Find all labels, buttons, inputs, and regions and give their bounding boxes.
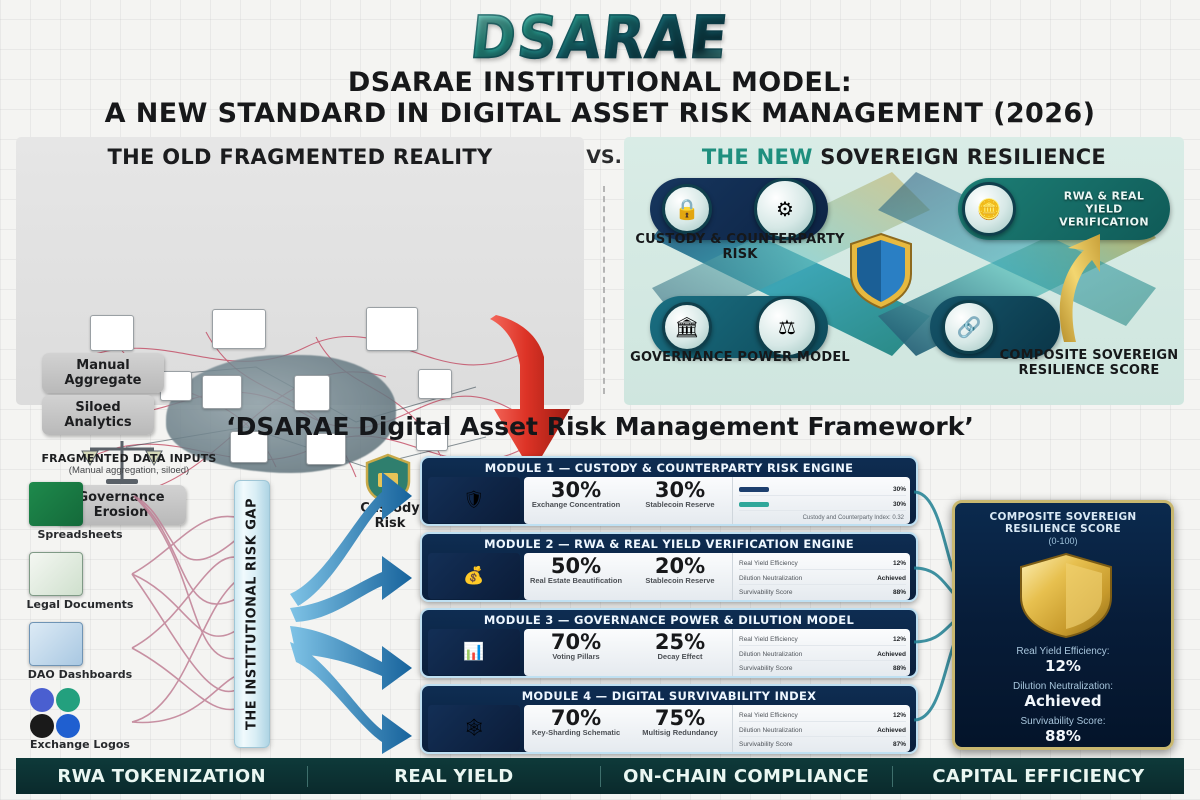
metric-bar bbox=[739, 487, 769, 492]
metric-row: 30% bbox=[739, 484, 906, 496]
metric-value: 88% bbox=[893, 663, 906, 674]
module-metrics-2: Real Yield Efficiency 12% Dilution Neutr… bbox=[732, 553, 910, 600]
metric-row: Real Yield Efficiency 12% bbox=[739, 634, 906, 646]
fragmented-flow-lines bbox=[128, 478, 248, 750]
network-ring-icon: ⚙ bbox=[754, 178, 816, 240]
metric-row: 30% bbox=[739, 499, 906, 511]
metric-label: Real Yield Efficiency bbox=[739, 558, 798, 569]
score-metric-value: Achieved bbox=[955, 693, 1171, 710]
pillars-icon: 📊 bbox=[428, 629, 520, 675]
page-title: DSARAE INSTITUTIONAL MODEL: A NEW STANDA… bbox=[0, 68, 1200, 130]
module-stat-value: 70% bbox=[524, 707, 628, 729]
page-title-line-2: A NEW STANDARD IN DIGITAL ASSET RISK MAN… bbox=[0, 98, 1200, 130]
metric-label: Dilution Neutralization bbox=[739, 573, 802, 584]
score-metric-dilution: Dilution Neutralization: Achieved bbox=[955, 681, 1171, 710]
metric-row: Survivability Score 88% bbox=[739, 587, 906, 598]
bottom-tag-real-yield[interactable]: REAL YIELD bbox=[308, 766, 600, 787]
document-icon bbox=[294, 375, 330, 411]
metric-row: Real Yield Efficiency 12% bbox=[739, 710, 906, 722]
module-card-4[interactable]: MODULE 4 — DIGITAL SURVIVABILITY INDEX 🕸… bbox=[420, 684, 918, 754]
module-body-1: 30% Exchange Concentration 30% Stablecoi… bbox=[524, 477, 910, 524]
metric-row: Dilution Neutralization Achieved bbox=[739, 649, 906, 661]
module-card-2[interactable]: MODULE 2 — RWA & REAL YIELD VERIFICATION… bbox=[420, 532, 918, 602]
metric-label: Real Yield Efficiency bbox=[739, 634, 798, 645]
module-stat-value: 30% bbox=[524, 479, 628, 501]
module-stat-label: Decay Effect bbox=[628, 653, 732, 662]
module-card-1[interactable]: MODULE 1 — CUSTODY & COUNTERPARTY RISK E… bbox=[420, 456, 918, 526]
metric-value: 88% bbox=[893, 587, 906, 598]
score-metric-value: 88% bbox=[955, 728, 1171, 745]
shield-nodes-icon: 🛡 bbox=[428, 477, 520, 523]
bottom-tag-capital-efficiency[interactable]: CAPITAL EFFICIENCY bbox=[893, 766, 1184, 787]
institutional-risk-gap-bar: THE INSTITUTIONAL RISK GAP bbox=[234, 480, 270, 748]
score-metric-real-yield: Real Yield Efficiency: 12% bbox=[955, 646, 1171, 675]
metric-value: 30% bbox=[893, 499, 906, 510]
metric-row: Real Yield Efficiency 12% bbox=[739, 558, 906, 570]
metric-label: Real Yield Efficiency bbox=[739, 710, 798, 721]
module-title-1: MODULE 1 — CUSTODY & COUNTERPARTY RISK E… bbox=[422, 461, 916, 475]
checklist-icon bbox=[90, 315, 134, 351]
source-label-exchange-logos: Exchange Logos bbox=[24, 738, 136, 751]
analytics-window-icon bbox=[212, 309, 266, 349]
gold-growth-arrow-icon bbox=[1044, 232, 1110, 344]
module-stat: 70% Voting Pillars bbox=[524, 629, 628, 676]
org-chart-icon: ⚖ bbox=[756, 296, 818, 358]
module-stat: 50% Real Estate Beautification bbox=[524, 553, 628, 600]
old-reality-heading: THE OLD FRAGMENTED REALITY bbox=[16, 145, 584, 169]
module-metrics-4: Real Yield Efficiency 12% Dilution Neutr… bbox=[732, 705, 910, 752]
gold-bars-icon: 💰 bbox=[428, 553, 520, 599]
metric-label: Survivability Score bbox=[739, 663, 792, 674]
exchange-logos-icon bbox=[30, 688, 82, 736]
bar-chart-icon bbox=[202, 375, 242, 409]
metric-bar bbox=[739, 502, 769, 507]
metric-row: Survivability Score 88% bbox=[739, 663, 906, 674]
module-stat-label: Exchange Concentration bbox=[524, 501, 628, 510]
bottom-tag-bar: RWA TOKENIZATION REAL YIELD ON-CHAIN COM… bbox=[16, 758, 1184, 794]
score-card-title-line-1: COMPOSITE SOVEREIGN bbox=[955, 511, 1171, 523]
page-title-line-1: DSARAE INSTITUTIONAL MODEL: bbox=[0, 68, 1200, 98]
document-icon bbox=[29, 552, 83, 596]
gold-bars-icon: 🪙 bbox=[962, 182, 1016, 236]
module-body-3: 70% Voting Pillars 25% Decay Effect Real… bbox=[524, 629, 910, 676]
network-icon: 🔗 bbox=[942, 300, 996, 354]
module-stat-value: 25% bbox=[628, 631, 732, 653]
database-icon bbox=[418, 369, 452, 399]
module-stat-label: Voting Pillars bbox=[524, 653, 628, 662]
metric-label: Survivability Score bbox=[739, 739, 792, 750]
module-title-3: MODULE 3 — GOVERNANCE POWER & DILUTION M… bbox=[422, 613, 916, 627]
metric-label: Dilution Neutralization bbox=[739, 725, 802, 736]
module-title-2: MODULE 2 — RWA & REAL YIELD VERIFICATION… bbox=[422, 537, 916, 551]
score-card-title-line-2: RESILIENCE SCORE bbox=[955, 523, 1171, 535]
module-stat: 25% Decay Effect bbox=[628, 629, 732, 676]
network-shield-icon: 🕸 bbox=[428, 705, 520, 751]
module-feed-arrows bbox=[286, 466, 414, 756]
framework-title: ‘DSARAE Digital Asset Risk Management Fr… bbox=[0, 412, 1200, 441]
institutional-risk-gap-label: THE INSTITUTIONAL RISK GAP bbox=[245, 498, 260, 730]
node-label-composite-score: COMPOSITE SOVEREIGN RESILIENCE SCORE bbox=[984, 348, 1194, 378]
panel-divider bbox=[603, 186, 605, 394]
composite-score-card: COMPOSITE SOVEREIGN RESILIENCE SCORE (0-… bbox=[952, 500, 1174, 750]
brand-logo-text: DSARAE bbox=[468, 3, 733, 71]
module-stat-value: 70% bbox=[524, 631, 628, 653]
old-reality-panel: THE OLD FRAGMENTED REALITY bbox=[16, 137, 584, 405]
spreadsheet-icon bbox=[160, 371, 192, 401]
old-pill-label: Manual Aggregate bbox=[64, 358, 141, 388]
chart-trend-icon bbox=[366, 307, 418, 351]
old-pill-manual-aggregate: Manual Aggregate bbox=[42, 353, 164, 393]
module-title-4: MODULE 4 — DIGITAL SURVIVABILITY INDEX bbox=[422, 689, 916, 703]
bottom-tag-on-chain-compliance[interactable]: ON-CHAIN COMPLIANCE bbox=[601, 766, 893, 787]
metric-value: Achieved bbox=[877, 649, 906, 660]
metric-value: 12% bbox=[893, 710, 906, 721]
module-stat-value: 20% bbox=[628, 555, 732, 577]
module-stat-label: Stablecoin Reserve bbox=[628, 501, 732, 510]
metric-label: Dilution Neutralization bbox=[739, 649, 802, 660]
module-stat-value: 50% bbox=[524, 555, 628, 577]
module-stat: 30% Exchange Concentration bbox=[524, 477, 628, 524]
metric-value: 30% bbox=[893, 484, 906, 495]
score-metric-value: 12% bbox=[955, 658, 1171, 675]
fragmented-inputs-subheading: (Manual aggregation, siloed) bbox=[34, 465, 224, 476]
score-card-range: (0-100) bbox=[955, 536, 1171, 546]
module-note-1: Custody and Counterparty Index: 0.32 bbox=[739, 515, 906, 521]
module-stat-value: 75% bbox=[628, 707, 732, 729]
fragmented-inputs-heading: FRAGMENTED DATA INPUTS bbox=[34, 452, 224, 465]
source-label-dao-dashboards: DAO Dashboards bbox=[24, 668, 136, 681]
module-stat-label: Real Estate Beautification bbox=[524, 577, 628, 586]
metric-label: Survivability Score bbox=[739, 587, 792, 598]
bank-icon: 🏛 bbox=[662, 302, 712, 352]
source-label-legal-documents: Legal Documents bbox=[24, 598, 136, 611]
metric-value: 87% bbox=[893, 739, 906, 750]
metric-value: Achieved bbox=[877, 573, 906, 584]
metric-row: Dilution Neutralization Achieved bbox=[739, 725, 906, 737]
node-label-rwa-real-yield: RWA & REAL YIELD VERIFICATION bbox=[1050, 190, 1158, 229]
brand-logo: DSARAE bbox=[0, 6, 1200, 68]
source-label-spreadsheets: Spreadsheets bbox=[24, 528, 136, 541]
module-stat: 20% Stablecoin Reserve bbox=[628, 553, 732, 600]
module-stat-label: Multisig Redundancy bbox=[628, 729, 732, 738]
metric-value: 12% bbox=[893, 558, 906, 569]
module-body-4: 70% Key-Sharding Schematic 75% Multisig … bbox=[524, 705, 910, 752]
module-metrics-3: Real Yield Efficiency 12% Dilution Neutr… bbox=[732, 629, 910, 676]
gold-shield-icon bbox=[1016, 551, 1116, 639]
spreadsheet-icon bbox=[29, 482, 83, 526]
module-stat: 70% Key-Sharding Schematic bbox=[524, 705, 628, 752]
score-metric-survivability: Survivability Score: 88% bbox=[955, 716, 1171, 745]
module-metrics-1: 30% 30% Custody and Counterparty Index: … bbox=[732, 477, 910, 524]
module-stat: 75% Multisig Redundancy bbox=[628, 705, 732, 752]
node-label-governance-power: GOVERNANCE POWER MODEL bbox=[630, 350, 850, 365]
module-body-2: 50% Real Estate Beautification 20% Stabl… bbox=[524, 553, 910, 600]
module-stat-value: 30% bbox=[628, 479, 732, 501]
module-stat: 30% Stablecoin Reserve bbox=[628, 477, 732, 524]
metric-row: Dilution Neutralization Achieved bbox=[739, 573, 906, 585]
bottom-tag-rwa-tokenization[interactable]: RWA TOKENIZATION bbox=[16, 766, 308, 787]
score-card-title: COMPOSITE SOVEREIGN RESILIENCE SCORE bbox=[955, 511, 1171, 535]
vs-label: VS. bbox=[582, 146, 626, 168]
infographic-canvas: DSARAE DSARAE INSTITUTIONAL MODEL: A NEW… bbox=[0, 0, 1200, 800]
module-card-3[interactable]: MODULE 3 — GOVERNANCE POWER & DILUTION M… bbox=[420, 608, 918, 678]
metric-row: Survivability Score 87% bbox=[739, 739, 906, 750]
module-stat-label: Stablecoin Reserve bbox=[628, 577, 732, 586]
shield-lock-icon: 🔒 bbox=[662, 184, 712, 234]
center-shield-icon bbox=[848, 232, 914, 310]
metric-value: Achieved bbox=[877, 725, 906, 736]
node-label-custody-counterparty: CUSTODY & COUNTERPARTY RISK bbox=[630, 232, 850, 262]
module-stat-label: Key-Sharding Schematic bbox=[524, 729, 628, 738]
dashboard-icon bbox=[29, 622, 83, 666]
metric-value: 12% bbox=[893, 634, 906, 645]
